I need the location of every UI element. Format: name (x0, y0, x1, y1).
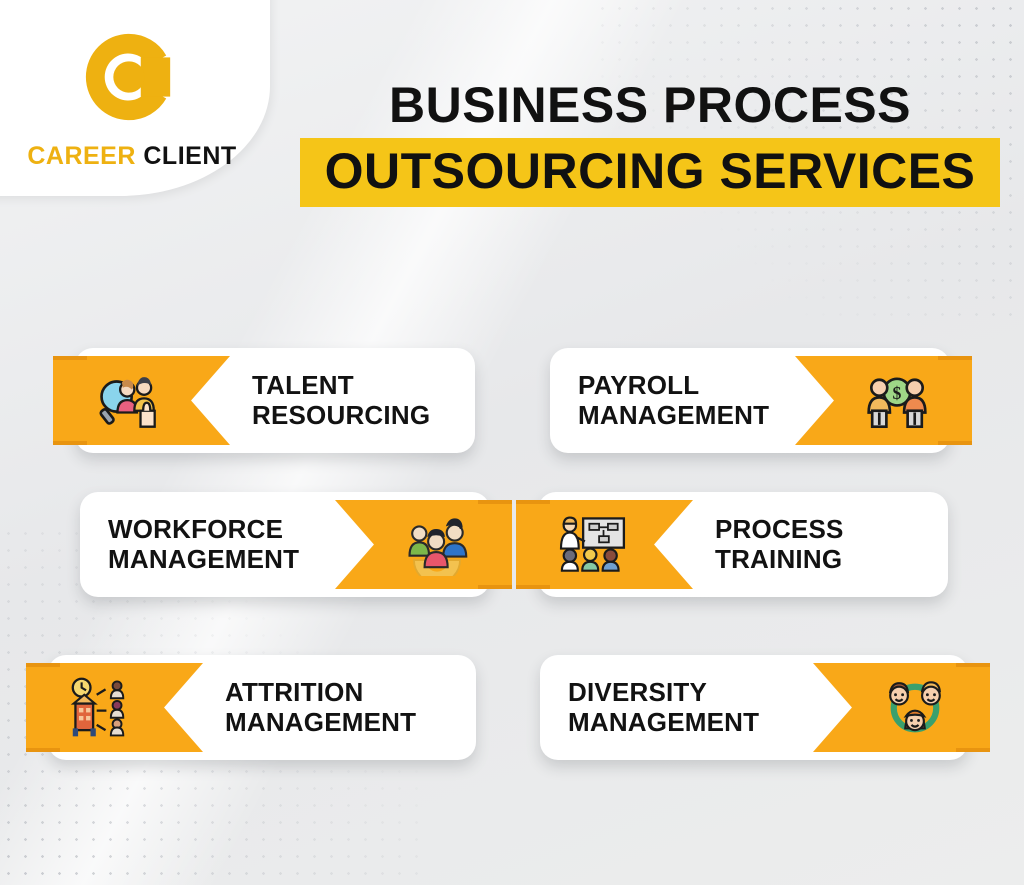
service-label-line1: PROCESS (715, 514, 844, 544)
service-label-line2: MANAGEMENT (568, 708, 799, 738)
service-card-label: WORKFORCEMANAGEMENT (80, 515, 335, 574)
service-label-line2: RESOURCING (252, 401, 461, 431)
service-card[interactable]: DIVERSITYMANAGEMENT (540, 655, 968, 760)
service-card[interactable]: $ PAYROLLMANAGEMENT (550, 348, 950, 453)
service-ribbon (813, 663, 990, 752)
service-label-line1: ATTRITION (225, 677, 364, 707)
service-card[interactable]: TALENTRESOURCING (75, 348, 475, 453)
ribbon-fold-bottom (53, 441, 87, 457)
ribbon-fold-top (516, 488, 550, 504)
service-label-line2: MANAGEMENT (225, 708, 462, 738)
diversity-circle-faces-icon (852, 677, 952, 739)
ribbon-fold-top (26, 651, 60, 667)
service-card-inner: ATTRITIONMANAGEMENT (48, 655, 476, 760)
payroll-money-people-icon: $ (834, 370, 934, 432)
logo-wordmark: CAREER CLIENT (22, 142, 242, 171)
ribbon-fold-bottom (956, 748, 990, 764)
service-card[interactable]: ATTRITIONMANAGEMENT (48, 655, 476, 760)
service-label-line2: MANAGEMENT (578, 401, 781, 431)
ribbon-fold-bottom (516, 585, 550, 601)
title-line-business-process: BUSINESS PROCESS (300, 78, 1000, 132)
service-card-inner: TALENTRESOURCING (75, 348, 475, 453)
attrition-clock-exit-icon (65, 677, 165, 739)
service-label-line2: TRAINING (715, 545, 934, 575)
service-card[interactable]: PROCESSTRAINING (538, 492, 948, 597)
ribbon-fold-top (956, 651, 990, 667)
title-line-outsourcing-services: OUTSOURCING SERVICES (318, 145, 982, 198)
service-label-line2: MANAGEMENT (108, 545, 321, 575)
service-card-label: DIVERSITYMANAGEMENT (540, 678, 813, 737)
service-card[interactable]: WORKFORCEMANAGEMENT (80, 492, 490, 597)
ribbon-fold-bottom (938, 441, 972, 457)
service-ribbon (53, 356, 230, 445)
service-label-line1: PAYROLL (578, 370, 699, 400)
ribbon-fold-top (938, 344, 972, 360)
page-title: BUSINESS PROCESS OUTSOURCING SERVICES (300, 78, 1000, 207)
wordmark-career: CAREER (27, 142, 136, 170)
wordmark-client: CLIENT (143, 142, 236, 170)
service-ribbon: $ (795, 356, 972, 445)
service-ribbon (26, 663, 203, 752)
process-training-whiteboard-icon (555, 514, 655, 576)
ribbon-fold-top (478, 488, 512, 504)
service-ribbon (516, 500, 693, 589)
service-card-label: TALENTRESOURCING (230, 371, 475, 430)
logo-panel: CAREER CLIENT (0, 0, 270, 196)
service-card-label: PAYROLLMANAGEMENT (550, 371, 795, 430)
service-card-inner: WORKFORCEMANAGEMENT (80, 492, 490, 597)
service-card-inner: DIVERSITYMANAGEMENT (540, 655, 968, 760)
talent-search-people-icon (92, 370, 192, 432)
ribbon-fold-top (53, 344, 87, 360)
service-label-line1: WORKFORCE (108, 514, 283, 544)
title-highlight-bar: OUTSOURCING SERVICES (300, 138, 1000, 207)
career-client-c-mark-icon (80, 28, 178, 126)
ribbon-fold-bottom (478, 585, 512, 601)
service-label-line1: DIVERSITY (568, 677, 707, 707)
service-card-label: ATTRITIONMANAGEMENT (203, 678, 476, 737)
svg-text:$: $ (892, 383, 901, 403)
service-card-inner: $ PAYROLLMANAGEMENT (550, 348, 950, 453)
service-label-line1: TALENT (252, 370, 354, 400)
service-card-label: PROCESSTRAINING (693, 515, 948, 574)
ribbon-fold-bottom (26, 748, 60, 764)
service-ribbon (335, 500, 512, 589)
service-card-inner: PROCESSTRAINING (538, 492, 948, 597)
workforce-team-gear-icon (374, 514, 474, 576)
